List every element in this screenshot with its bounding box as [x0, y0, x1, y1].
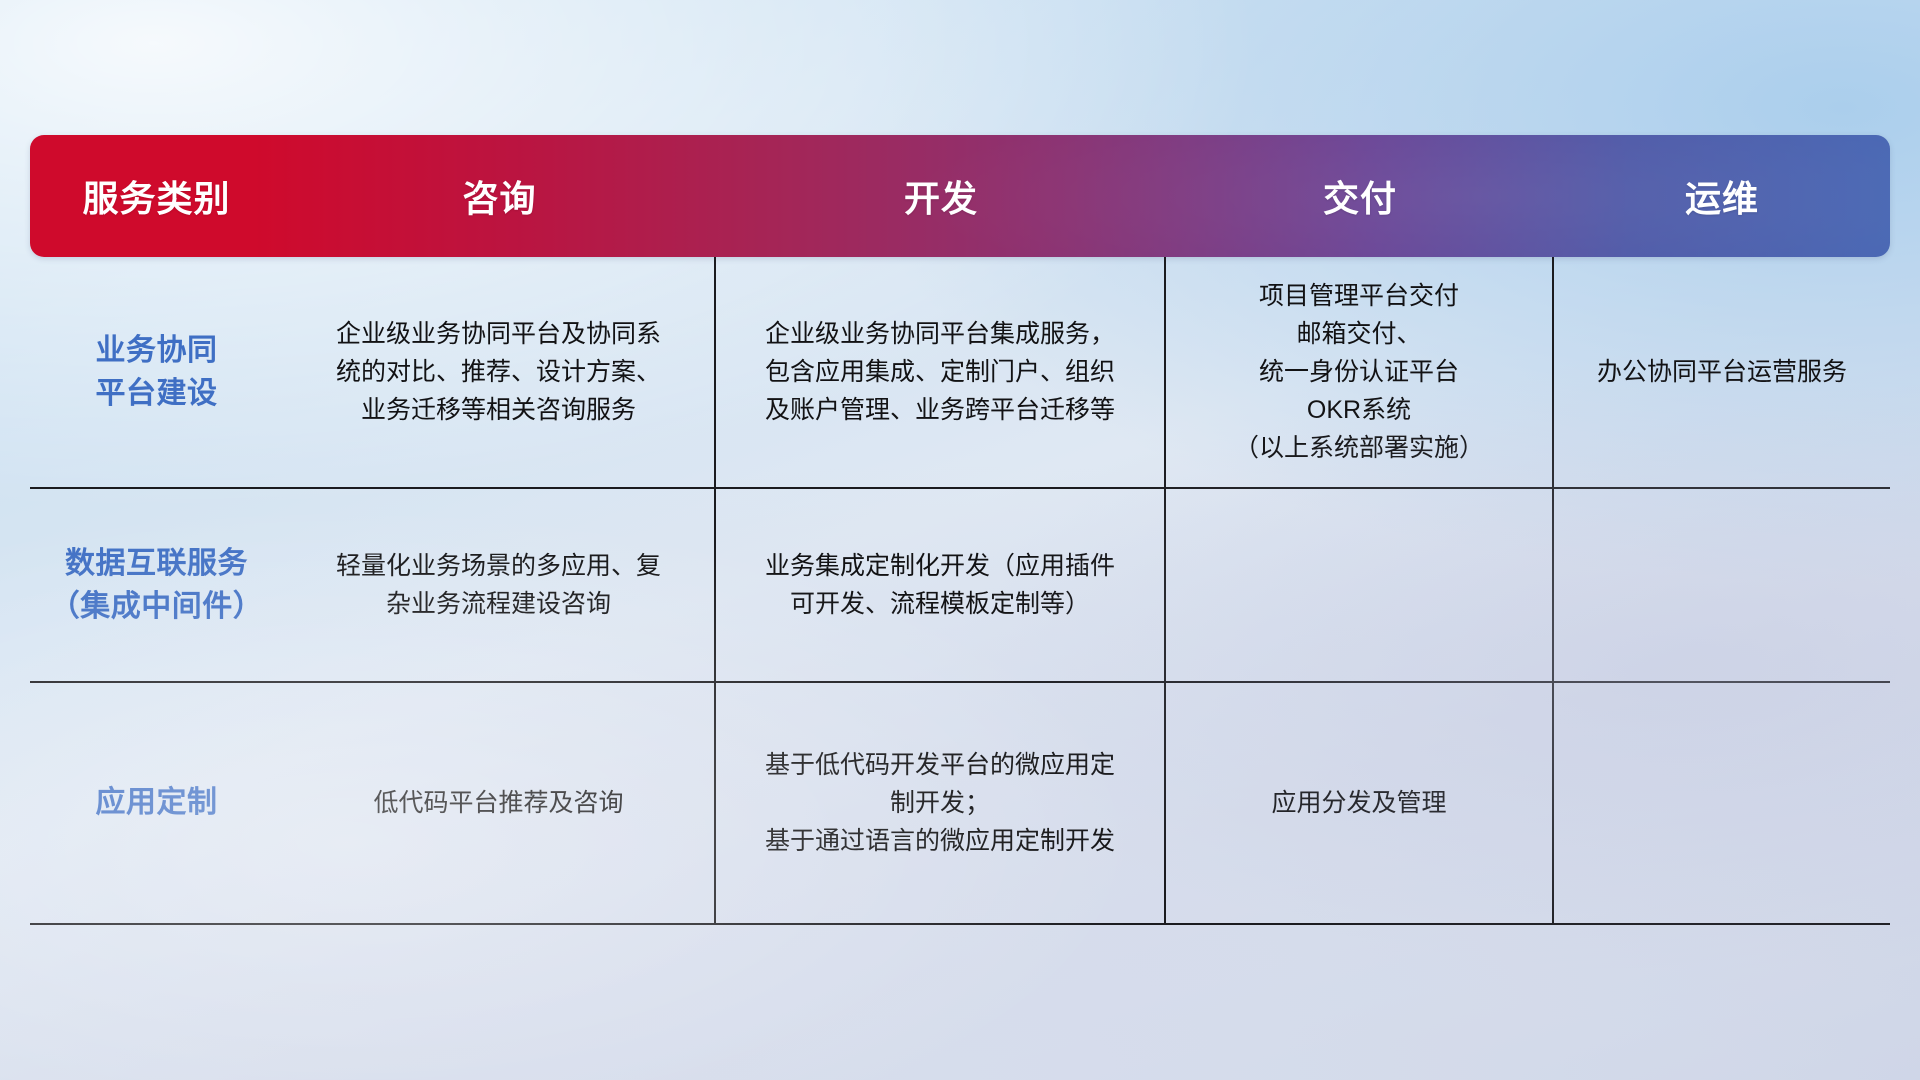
cell-consulting: 轻量化业务场景的多应用、复 杂业务流程建设咨询	[283, 489, 716, 681]
cell-development: 基于低代码开发平台的微应用定 制开发； 基于通过语言的微应用定制开发	[716, 683, 1166, 923]
table-row: 数据互联服务 （集成中间件） 轻量化业务场景的多应用、复 杂业务流程建设咨询 业…	[30, 489, 1890, 683]
table-row: 业务协同 平台建设 企业级业务协同平台及协同系 统的对比、推荐、设计方案、 业务…	[30, 257, 1890, 489]
row-category-cell: 业务协同 平台建设	[30, 257, 283, 487]
cell-text: 基于低代码开发平台的微应用定 制开发； 基于通过语言的微应用定制开发	[765, 746, 1115, 860]
row-category-cell: 数据互联服务 （集成中间件）	[30, 489, 283, 681]
cell-text: 业务集成定制化开发（应用插件 可开发、流程模板定制等）	[765, 547, 1115, 623]
cell-delivery	[1166, 489, 1554, 681]
category-label: 应用定制	[96, 781, 218, 825]
cell-delivery: 应用分发及管理	[1166, 683, 1554, 923]
cell-development: 企业级业务协同平台集成服务， 包含应用集成、定制门户、组织 及账户管理、业务跨平…	[716, 257, 1166, 487]
column-header-delivery: 交付	[1166, 135, 1554, 257]
cell-text: 企业级业务协同平台集成服务， 包含应用集成、定制门户、组织 及账户管理、业务跨平…	[765, 315, 1115, 429]
category-label: 数据互联服务 （集成中间件）	[50, 542, 264, 629]
service-matrix-table: 服务类别 咨询 开发 交付 运维 业务协同 平台建设 企业级业务协同平台及协同系…	[30, 135, 1890, 925]
cell-text: 企业级业务协同平台及协同系 统的对比、推荐、设计方案、 业务迁移等相关咨询服务	[336, 315, 661, 429]
table-row: 应用定制 低代码平台推荐及咨询 基于低代码开发平台的微应用定 制开发； 基于通过…	[30, 683, 1890, 925]
cell-text: 应用分发及管理	[1271, 784, 1446, 822]
table-body: 业务协同 平台建设 企业级业务协同平台及协同系 统的对比、推荐、设计方案、 业务…	[30, 257, 1890, 925]
table-header-row: 服务类别 咨询 开发 交付 运维	[30, 135, 1890, 257]
cell-consulting: 低代码平台推荐及咨询	[283, 683, 716, 923]
cell-text: 轻量化业务场景的多应用、复 杂业务流程建设咨询	[336, 547, 661, 623]
cell-delivery: 项目管理平台交付 邮箱交付、 统一身份认证平台 OKR系统 （以上系统部署实施）	[1166, 257, 1554, 487]
cell-operations: 办公协同平台运营服务	[1554, 257, 1890, 487]
column-header-operations: 运维	[1554, 135, 1890, 257]
cell-text: 低代码平台推荐及咨询	[373, 784, 623, 822]
cell-operations	[1554, 683, 1890, 923]
cell-operations	[1554, 489, 1890, 681]
cell-text: 办公协同平台运营服务	[1597, 353, 1847, 391]
cell-development: 业务集成定制化开发（应用插件 可开发、流程模板定制等）	[716, 489, 1166, 681]
column-header-service-category: 服务类别	[30, 135, 283, 257]
column-header-development: 开发	[716, 135, 1166, 257]
column-header-consulting: 咨询	[283, 135, 716, 257]
cell-text: 项目管理平台交付 邮箱交付、 统一身份认证平台 OKR系统 （以上系统部署实施）	[1234, 277, 1484, 467]
slide-canvas: 服务类别 咨询 开发 交付 运维 业务协同 平台建设 企业级业务协同平台及协同系…	[0, 0, 1920, 1080]
row-category-cell: 应用定制	[30, 683, 283, 923]
cell-consulting: 企业级业务协同平台及协同系 统的对比、推荐、设计方案、 业务迁移等相关咨询服务	[283, 257, 716, 487]
category-label: 业务协同 平台建设	[96, 329, 218, 416]
